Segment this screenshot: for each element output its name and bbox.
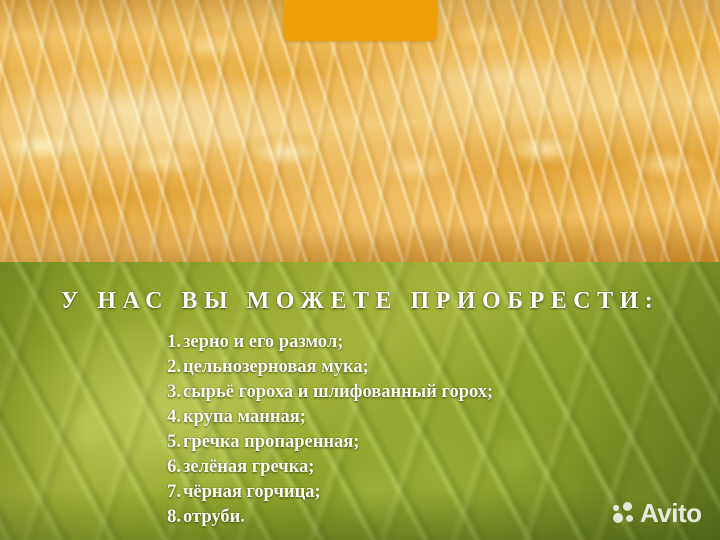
list-item-label: крупа манная; bbox=[183, 405, 306, 430]
list-item-label: цельнозерновая мука; bbox=[183, 355, 369, 380]
list-item: 6. зелёная гречка; bbox=[0, 455, 720, 480]
list-item-number: 1. bbox=[0, 330, 183, 355]
list-item: 3. сырьё гороха и шлифованный горох; bbox=[0, 380, 720, 405]
list-item-number: 5. bbox=[0, 430, 183, 455]
orange-tag-banner bbox=[283, 0, 437, 41]
list-item-number: 8. bbox=[0, 505, 183, 530]
list-item-number: 4. bbox=[0, 405, 183, 430]
avito-watermark: Avito bbox=[613, 500, 702, 526]
list-item-label: отруби. bbox=[183, 505, 245, 530]
list-item: 8. отруби. bbox=[0, 505, 720, 530]
list-item-number: 6. bbox=[0, 455, 183, 480]
list-item-number: 7. bbox=[0, 480, 183, 505]
list-item-label: чёрная горчица; bbox=[183, 480, 321, 505]
list-item-number: 3. bbox=[0, 380, 183, 405]
poster-canvas: У НАС ВЫ МОЖЕТЕ ПРИОБРЕСТИ: 1. зерно и е… bbox=[0, 0, 720, 540]
list-item: 1. зерно и его размол; bbox=[0, 330, 720, 355]
list-item-number: 2. bbox=[0, 355, 183, 380]
list-item-label: сырьё гороха и шлифованный горох; bbox=[183, 380, 493, 405]
list-item: 4. крупа манная; bbox=[0, 405, 720, 430]
list-item: 2. цельнозерновая мука; bbox=[0, 355, 720, 380]
list-item: 7. чёрная горчица; bbox=[0, 480, 720, 505]
list-item-label: гречка пропаренная; bbox=[183, 430, 359, 455]
offer-heading: У НАС ВЫ МОЖЕТЕ ПРИОБРЕСТИ: bbox=[0, 287, 720, 315]
avito-dots-icon bbox=[613, 502, 636, 524]
list-item-label: зелёная гречка; bbox=[183, 455, 314, 480]
avito-wordmark: Avito bbox=[640, 500, 702, 526]
list-item: 5. гречка пропаренная; bbox=[0, 430, 720, 455]
product-list: 1. зерно и его размол; 2. цельнозерновая… bbox=[0, 330, 720, 530]
wheat-hero-image bbox=[0, 0, 720, 262]
list-item-label: зерно и его размол; bbox=[183, 330, 343, 355]
